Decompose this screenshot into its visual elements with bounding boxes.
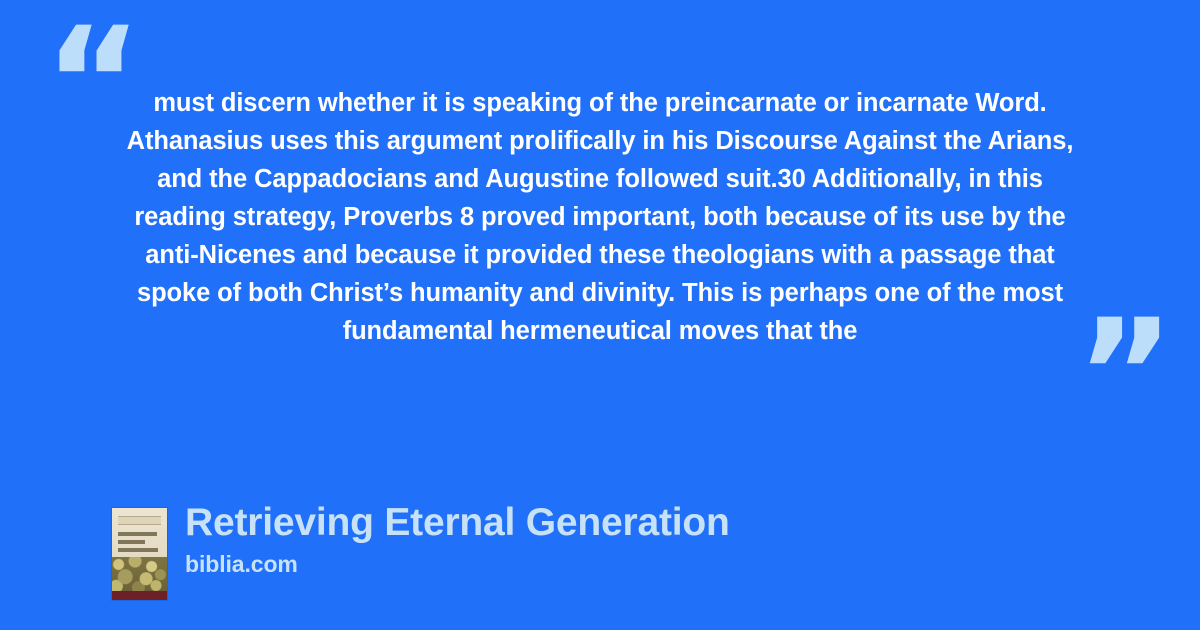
book-title[interactable]: Retrieving Eternal Generation — [185, 500, 730, 546]
book-cover-texture — [112, 557, 167, 591]
book-cover-top — [112, 508, 167, 557]
site-name[interactable]: biblia.com — [185, 550, 730, 578]
attribution-text: Retrieving Eternal Generation biblia.com — [185, 500, 730, 578]
quote-text: must discern whether it is speaking of t… — [112, 84, 1088, 350]
quote-card: “ must discern whether it is speaking of… — [0, 0, 1200, 630]
book-cover-bottom-band — [112, 591, 167, 600]
book-cover-title-lines — [118, 532, 162, 556]
close-quote-icon: ” — [1076, 300, 1175, 450]
book-cover-publisher-bar — [118, 516, 161, 525]
attribution-footer: Retrieving Eternal Generation biblia.com — [112, 500, 730, 600]
book-cover-thumbnail[interactable] — [112, 508, 167, 600]
